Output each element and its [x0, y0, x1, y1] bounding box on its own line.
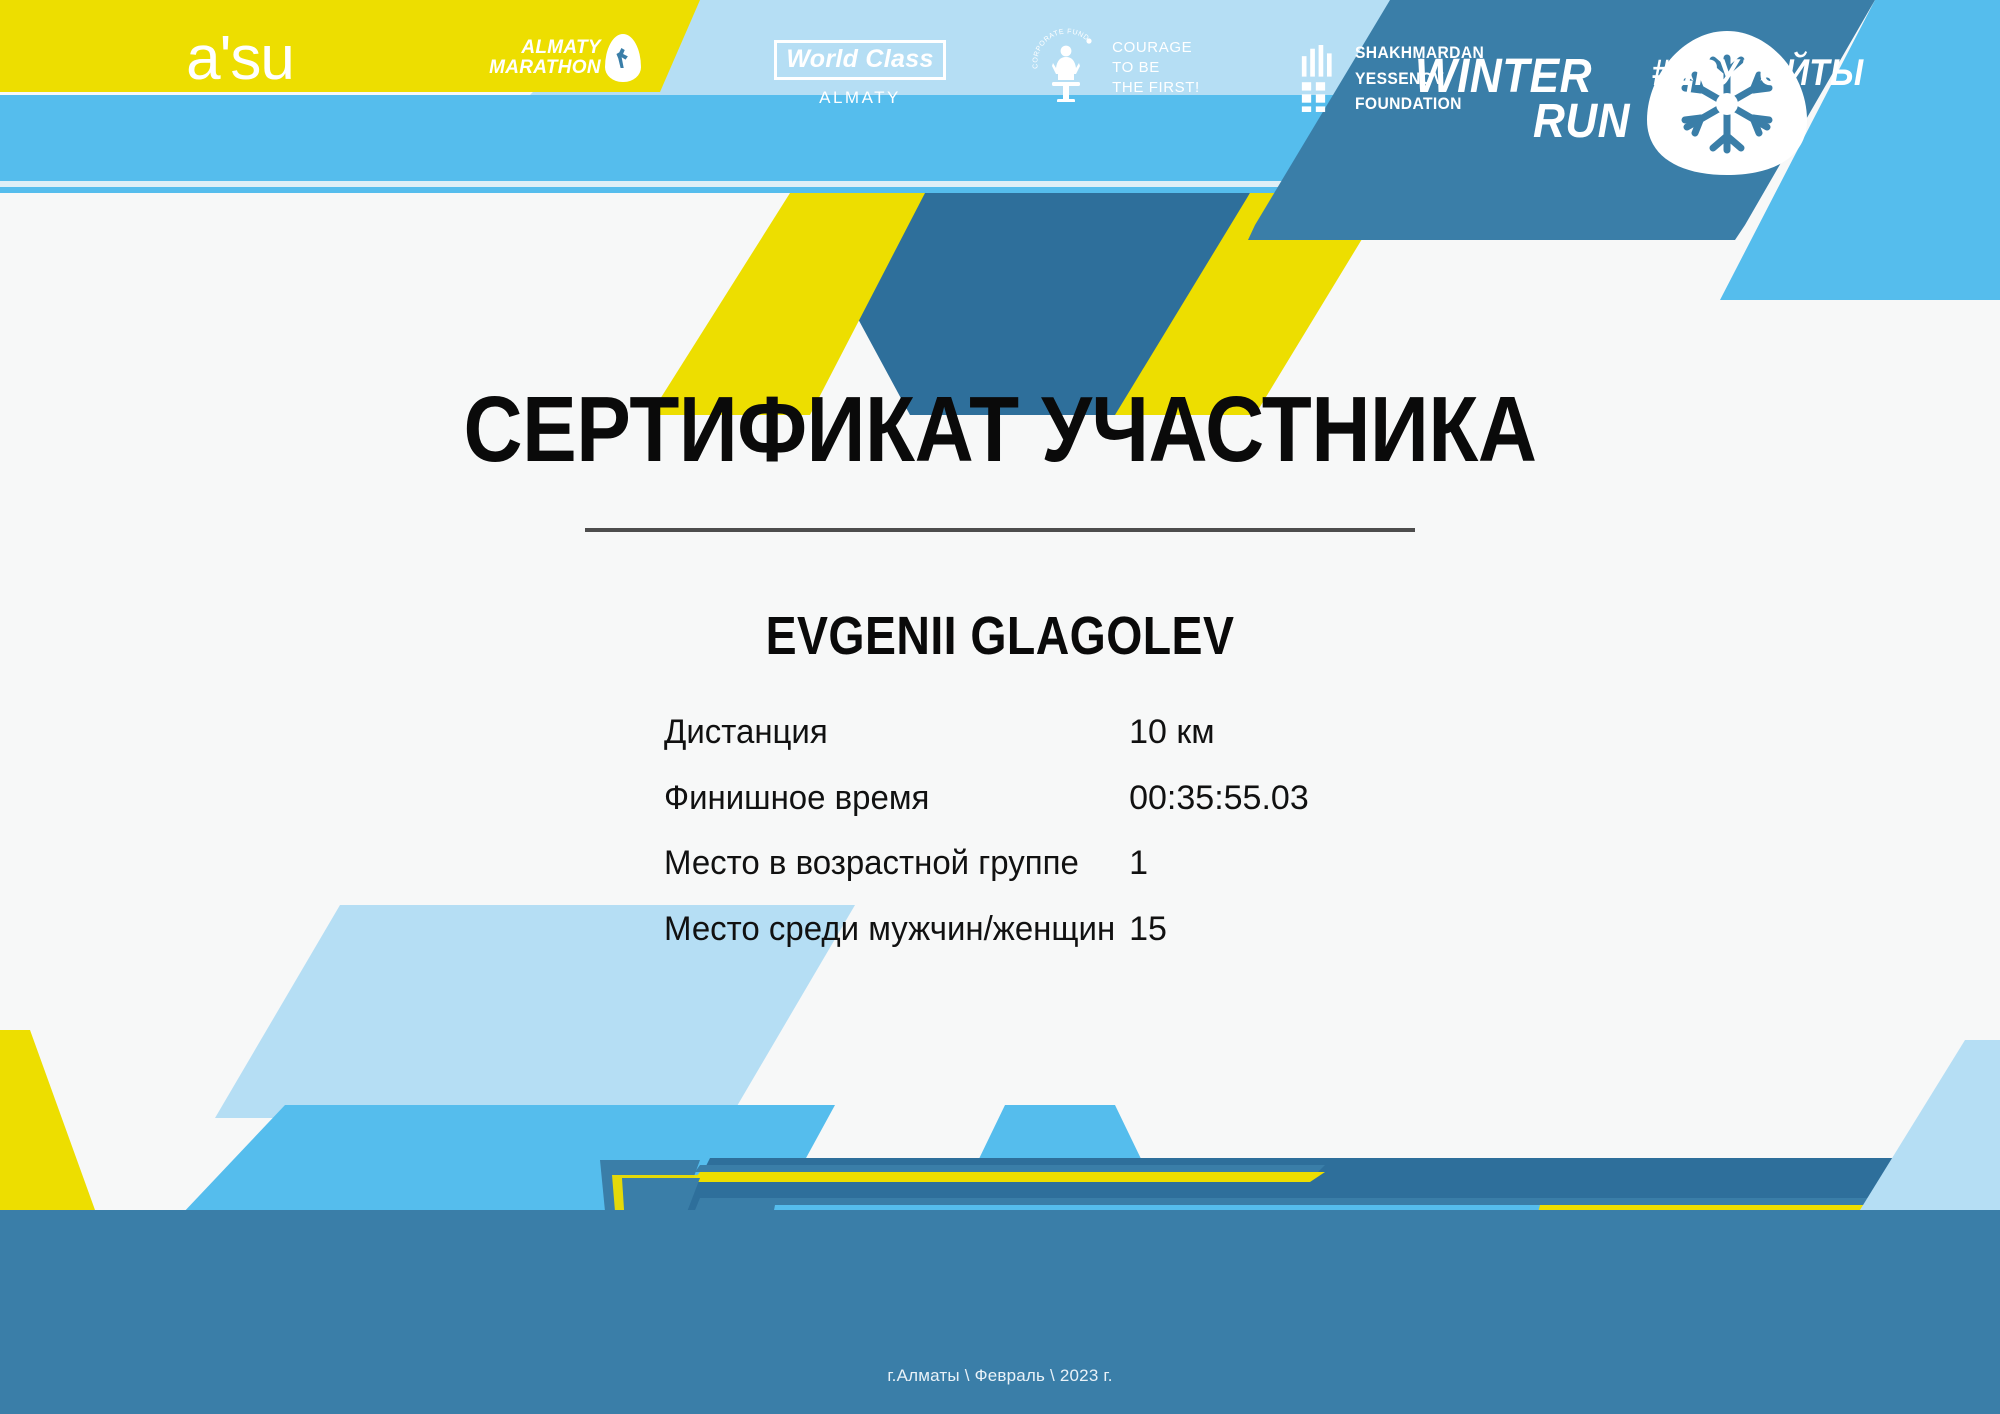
- result-label-distance: Дистанция: [664, 715, 1115, 781]
- drugoity-hashtag: #ДРУГОЙТЫ: [1652, 52, 1859, 94]
- courage-line1: COURAGE: [1112, 38, 1200, 58]
- result-value-distance: 10 км: [1129, 715, 1364, 781]
- world-class-wordmark: World Class: [774, 40, 945, 80]
- deco-ribbon-inner: [695, 1165, 1325, 1172]
- top-decoration-graphics: [0, 0, 2000, 1414]
- asu-wordmark: a'su: [150, 28, 330, 90]
- result-value-finish-time: 00:35:55.03: [1129, 781, 1364, 847]
- deco-deep-ribbon-upper: [690, 1158, 2000, 1198]
- yessenov-bars-icon: [1300, 45, 1341, 112]
- deco-yellow-sliver-left: [0, 1030, 95, 1210]
- participant-name: EVGENII GLAGOLEV: [140, 605, 1860, 667]
- deco-logo-panel-foot: [1248, 225, 1745, 240]
- runner-drop-icon: [605, 34, 641, 82]
- result-label-gender-place: Место среди мужчин/женщин: [664, 912, 1115, 978]
- courage-line2: TO BE: [1112, 58, 1200, 78]
- table-row: Финишное время 00:35:55.03: [664, 781, 1364, 847]
- yessenov-line1: SHAKHMARDAN YESSENOV: [1355, 40, 1562, 91]
- courage-fund-slogan: COURAGE TO BE THE FIRST!: [1112, 38, 1200, 99]
- sponsor-logo-yessenov-foundation: SHAKHMARDAN YESSENOV FOUNDATION: [1300, 40, 1580, 117]
- sponsor-logo-asu: a'su: [150, 28, 330, 90]
- certificate-page: WINTER RUN: [0, 0, 2000, 1414]
- deco-yellow-hairline-ribbon: [692, 1172, 1325, 1182]
- raised-arms-person-icon: [1052, 44, 1080, 102]
- sponsor-logo-world-class: World Class ALMATY: [760, 40, 960, 108]
- footer-caption: г.Алматы \ Февраль \ 2023 г.: [0, 1366, 2000, 1386]
- table-row: Место в возрастной группе 1: [664, 846, 1364, 912]
- result-value-gender-place: 15: [1129, 912, 1364, 978]
- deco-hairline-top: [0, 181, 1347, 187]
- table-row: Дистанция 10 км: [664, 715, 1364, 781]
- almaty-marathon-line1: ALMATY: [489, 38, 601, 58]
- result-value-age-group-place: 1: [1129, 846, 1364, 912]
- title-divider: [585, 528, 1415, 532]
- world-class-city: ALMATY: [760, 88, 960, 108]
- result-label-finish-time: Финишное время: [664, 781, 1115, 847]
- sponsor-logo-almaty-marathon: ALMATY MARATHON: [470, 34, 660, 82]
- result-label-age-group-place: Место в возрастной группе: [664, 846, 1115, 912]
- yessenov-line2: FOUNDATION: [1355, 91, 1562, 117]
- deco-pale-wedge-bottom-right: [1860, 1040, 2000, 1210]
- page-title: СЕРТИФИКАТ УЧАСТНИКА: [120, 383, 1880, 476]
- almaty-marathon-wordmark: ALMATY MARATHON: [489, 38, 601, 78]
- results-table: Дистанция 10 км Финишное время 00:35:55.…: [664, 715, 1364, 978]
- sponsor-logo-courage-fund: CORPORATE FUND COURAGE TO BE: [1000, 26, 1230, 110]
- courage-line3: THE FIRST!: [1112, 78, 1200, 98]
- almaty-marathon-line2: MARATHON: [489, 58, 601, 78]
- yessenov-wordmark: SHAKHMARDAN YESSENOV FOUNDATION: [1355, 40, 1562, 117]
- sponsor-logo-drugoity: #ДРУГОЙТЫ: [1640, 52, 1870, 94]
- sponsor-row: a'su ALMATY MARATHON World Class ALMATY: [0, 18, 2000, 128]
- table-row: Место среди мужчин/женщин 15: [664, 912, 1364, 978]
